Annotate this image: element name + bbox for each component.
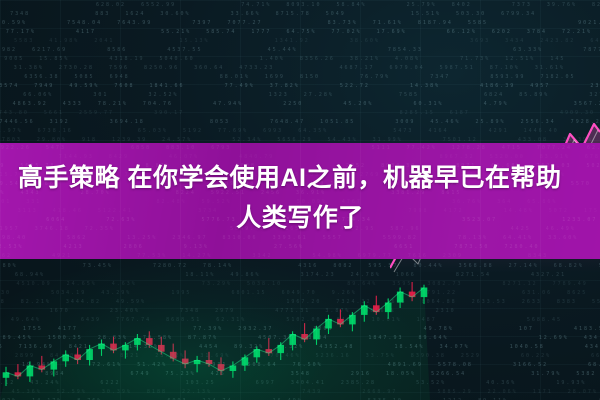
headline-line-2: 人类写作了 [8,198,592,238]
page-title: 高手策略 在你学会使用AI之前，机器早已在帮助 人类写作了 [0,158,600,238]
candlestick-glow [0,258,430,400]
candlestick-chart [0,258,430,400]
headline-line-1: 高手策略 在你学会使用AI之前，机器早已在帮助 [8,158,592,198]
banner-image: 628.02 6552.99 74.71% 8093.10 58.84% 25.… [0,0,600,400]
headline-band: 8922.26 5473 6858 883.10 6793 5111 77.42… [0,143,600,259]
